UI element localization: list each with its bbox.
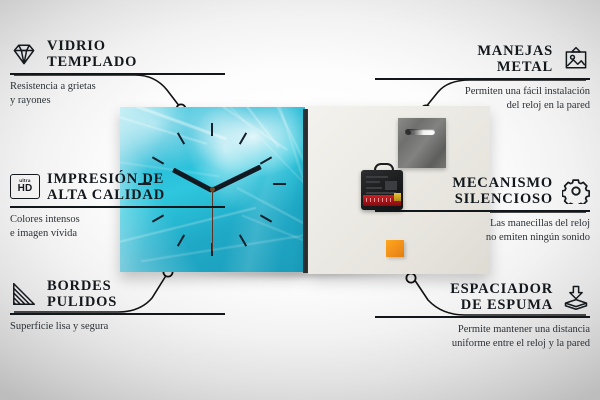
feature-title-line2: SILENCIOSO (452, 191, 553, 207)
feature-rule (10, 313, 225, 315)
feature-title-line1: MANEJAS (477, 43, 553, 59)
clock-tick-3 (273, 183, 286, 185)
feature-title-line2: TEMPLADO (47, 54, 137, 70)
feature-espaciador-espuma: ESPACIADOR DE ESPUMA Permite mantener un… (375, 281, 590, 351)
feature-desc-line1: Las manecillas del reloj (375, 217, 590, 231)
feature-desc-line1: Colores intensos (10, 213, 225, 227)
feature-title-line2: DE ESPUMA (450, 297, 553, 313)
ultra-hd-icon: ultra HD (10, 174, 38, 200)
feature-rule (375, 210, 590, 212)
feature-rule (375, 78, 590, 80)
feature-rule (10, 206, 225, 208)
clock-tick-12 (211, 123, 213, 136)
feature-mecanismo-silencioso: MECANISMO SILENCIOSO Las manecillas del … (375, 175, 590, 245)
feature-title-line1: ESPACIADOR (450, 281, 553, 297)
feature-desc-line1: Permite mantener una distancia (375, 323, 590, 337)
feature-title-line1: IMPRESIÓN DE (47, 171, 165, 187)
feature-manejas-metal: MANEJAS METAL Permiten una fácil instala… (375, 43, 590, 113)
hanging-frame-icon (562, 46, 590, 72)
diamond-icon (10, 41, 38, 67)
feature-desc-line1: Permiten una fácil instalación (375, 85, 590, 99)
metal-hanger-plate (398, 118, 446, 168)
feature-vidrio-templado: VIDRIO TEMPLADO Resistencia a grietas y … (10, 38, 225, 108)
feature-title-line2: PULIDOS (47, 294, 117, 310)
hanger-hole (406, 130, 411, 135)
feature-title-line1: BORDES (47, 278, 117, 294)
ultra-hd-big-label: HD (18, 184, 33, 194)
feature-title-line2: ALTA CALIDAD (47, 187, 165, 203)
feature-desc-line2: y rayones (10, 94, 225, 108)
foam-spacer-icon (562, 284, 590, 310)
feature-desc-line2: no emiten ningún sonido (375, 231, 590, 245)
feature-desc-line2: e imagen vívida (10, 227, 225, 241)
feature-desc-line2: uniforme entre el reloj y la pared (375, 337, 590, 351)
feature-title-line1: VIDRIO (47, 38, 137, 54)
infographic-canvas: VIDRIO TEMPLADO Resistencia a grietas y … (0, 0, 600, 400)
feature-impresion-alta-calidad: ultra HD IMPRESIÓN DE ALTA CALIDAD Color… (10, 171, 225, 241)
gear-icon (562, 178, 590, 204)
feature-title-line1: MECANISMO (452, 175, 553, 191)
feature-desc-line1: Resistencia a grietas (10, 80, 225, 94)
feature-rule (375, 316, 590, 318)
feature-rule (10, 73, 225, 75)
polished-edge-icon (10, 281, 38, 307)
feature-desc-line1: Superficie lisa y segura (10, 320, 225, 334)
feature-desc-line2: del reloj en la pared (375, 99, 590, 113)
feature-title-line2: METAL (477, 59, 553, 75)
feature-bordes-pulidos: BORDES PULIDOS Superficie lisa y segura (10, 278, 225, 334)
